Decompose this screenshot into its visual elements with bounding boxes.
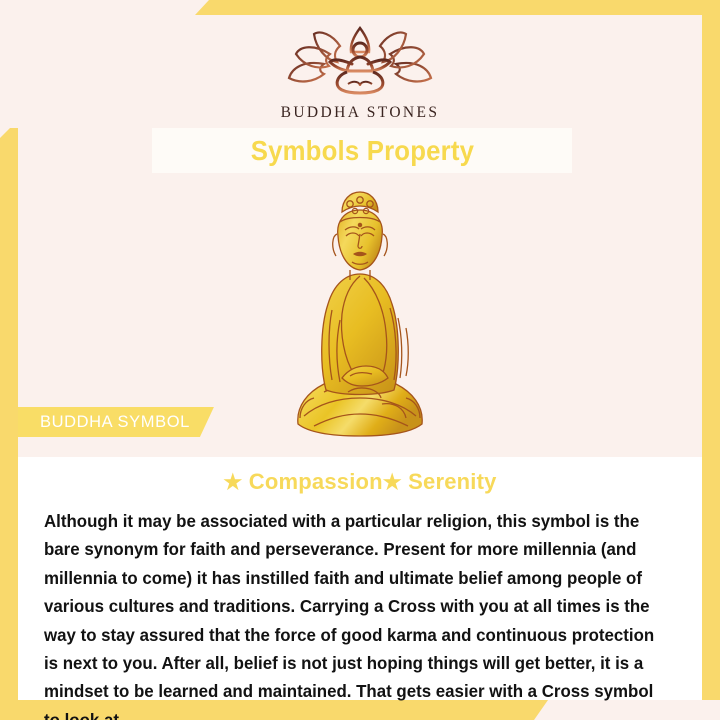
statue-illustration bbox=[0, 178, 720, 444]
golden-seated-buddha-statue-icon bbox=[262, 178, 458, 444]
brand-name: BUDDHA STONES bbox=[281, 104, 440, 122]
lotus-meditation-icon bbox=[284, 26, 436, 98]
body-paragraph: Although it may be associated with a par… bbox=[44, 507, 657, 720]
page-title: Symbols Property bbox=[250, 135, 473, 167]
title-banner: Symbols Property bbox=[152, 128, 572, 173]
symbol-tag-label: BUDDHA SYMBOL bbox=[40, 413, 190, 432]
subtitle-word-compassion: Compassion bbox=[249, 469, 383, 494]
star-icon-1: ★ bbox=[223, 471, 242, 494]
poster-root: BUDDHA STONES Symbols Property bbox=[0, 0, 720, 720]
star-icon-2: ★ bbox=[383, 471, 402, 494]
decorative-band-top bbox=[195, 0, 702, 15]
subtitle-word-serenity: Serenity bbox=[408, 469, 496, 494]
subtitle: ★ Compassion★ Serenity bbox=[44, 469, 676, 495]
symbol-tag: BUDDHA SYMBOL bbox=[18, 407, 214, 437]
content-card: ★ Compassion★ Serenity Although it may b… bbox=[18, 457, 702, 700]
brand-logo: BUDDHA STONES bbox=[0, 26, 720, 122]
